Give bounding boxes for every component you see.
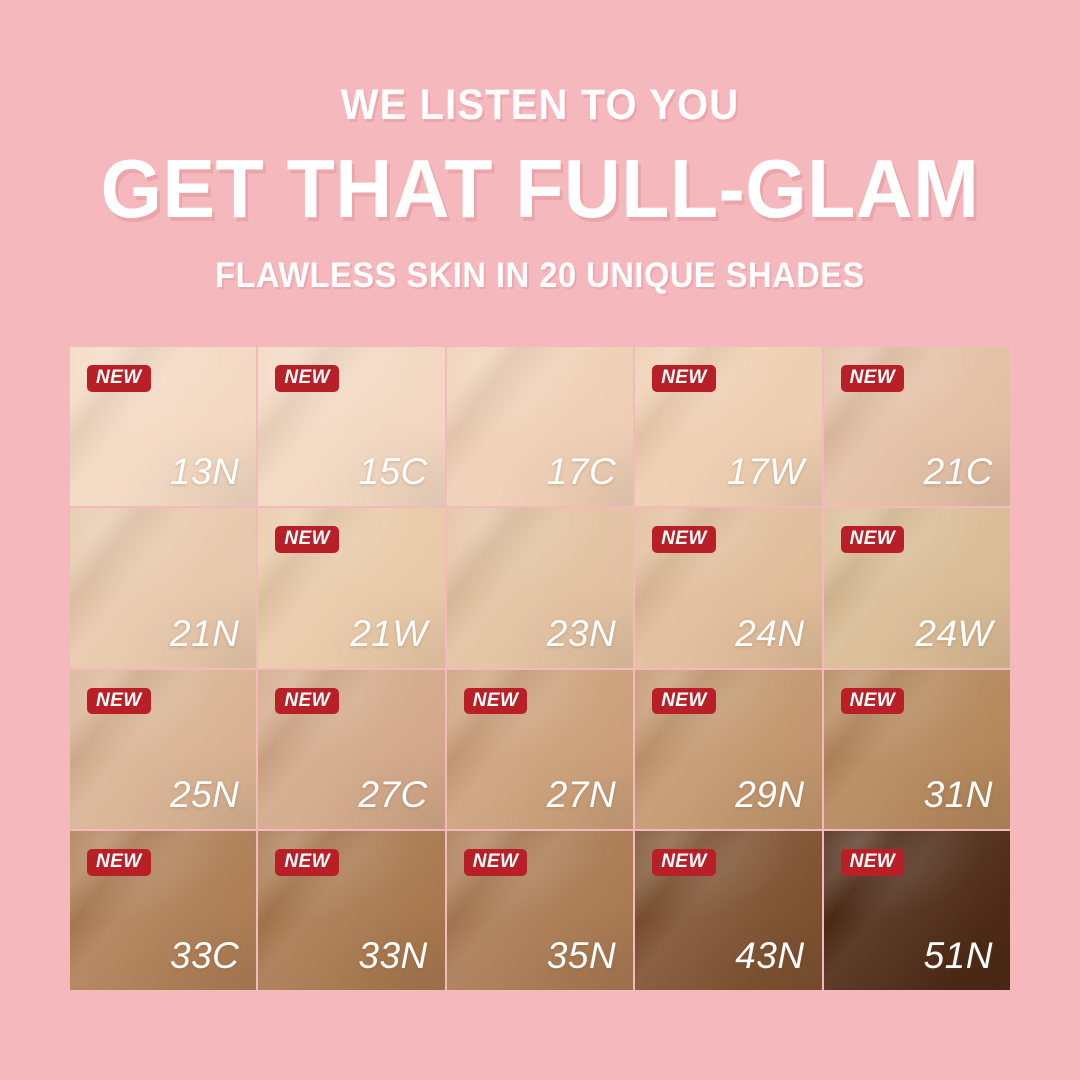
shade-code-label: 21C	[924, 453, 993, 490]
new-badge: NEW	[652, 849, 716, 876]
shade-code-label: 33C	[170, 937, 239, 974]
shade-swatch[interactable]: 21N	[70, 508, 256, 667]
new-badge: NEW	[87, 688, 151, 715]
shade-code-label: 51N	[924, 937, 993, 974]
shade-swatch[interactable]: NEW43N	[635, 831, 821, 990]
shade-code-label: 21N	[170, 615, 239, 652]
new-badge: NEW	[652, 365, 716, 392]
shade-code-label: 33N	[358, 937, 427, 974]
new-badge: NEW	[841, 526, 905, 553]
shade-swatch[interactable]: NEW29N	[635, 670, 821, 829]
eyebrow-text: WE LISTEN TO YOU	[38, 84, 1042, 127]
new-badge: NEW	[841, 849, 905, 876]
shade-swatch[interactable]: 17C	[447, 347, 633, 506]
shade-swatch[interactable]: NEW31N	[824, 670, 1010, 829]
new-badge: NEW	[275, 849, 339, 876]
new-badge: NEW	[275, 688, 339, 715]
promo-poster: WE LISTEN TO YOU GET THAT FULL-GLAM FLAW…	[0, 0, 1080, 1080]
new-badge: NEW	[652, 526, 716, 553]
shade-swatch[interactable]: NEW33N	[258, 831, 444, 990]
shade-swatch[interactable]: NEW25N	[70, 670, 256, 829]
new-badge: NEW	[87, 849, 151, 876]
page-title: GET THAT FULL-GLAM	[27, 147, 1053, 230]
shade-swatch[interactable]: NEW33C	[70, 831, 256, 990]
shade-swatch-grid: NEW13NNEW15C17CNEW17WNEW21C21NNEW21W23NN…	[70, 347, 1010, 990]
shade-code-label: 27C	[358, 776, 427, 813]
shade-swatch[interactable]: NEW17W	[635, 347, 821, 506]
shade-code-label: 25N	[170, 776, 239, 813]
shade-swatch[interactable]: NEW21C	[824, 347, 1010, 506]
shade-swatch[interactable]: NEW27N	[447, 670, 633, 829]
shade-code-label: 15C	[358, 453, 427, 490]
shade-code-label: 24N	[735, 615, 804, 652]
shade-swatch[interactable]: NEW51N	[824, 831, 1010, 990]
shade-code-label: 43N	[735, 937, 804, 974]
new-badge: NEW	[275, 526, 339, 553]
new-badge: NEW	[652, 688, 716, 715]
new-badge: NEW	[464, 849, 528, 876]
shade-swatch[interactable]: NEW21W	[258, 508, 444, 667]
shade-code-label: 29N	[735, 776, 804, 813]
shade-swatch[interactable]: NEW24N	[635, 508, 821, 667]
shade-swatch[interactable]: NEW13N	[70, 347, 256, 506]
shade-code-label: 21W	[350, 615, 428, 652]
new-badge: NEW	[464, 688, 528, 715]
new-badge: NEW	[275, 365, 339, 392]
shade-code-label: 13N	[170, 453, 239, 490]
shade-code-label: 24W	[915, 615, 993, 652]
shade-code-label: 17W	[727, 453, 805, 490]
new-badge: NEW	[841, 688, 905, 715]
shade-swatch[interactable]: 23N	[447, 508, 633, 667]
shade-code-label: 23N	[547, 615, 616, 652]
shade-code-label: 31N	[924, 776, 993, 813]
header-block: WE LISTEN TO YOU GET THAT FULL-GLAM FLAW…	[0, 0, 1080, 293]
shade-code-label: 17C	[547, 453, 616, 490]
shade-code-label: 27N	[547, 776, 616, 813]
shade-swatch[interactable]: NEW15C	[258, 347, 444, 506]
shade-swatch[interactable]: NEW27C	[258, 670, 444, 829]
new-badge: NEW	[841, 365, 905, 392]
shade-swatch[interactable]: NEW35N	[447, 831, 633, 990]
new-badge: NEW	[87, 365, 151, 392]
subheadline-text: FLAWLESS SKIN IN 20 UNIQUE SHADES	[38, 258, 1042, 293]
shade-swatch[interactable]: NEW24W	[824, 508, 1010, 667]
shade-code-label: 35N	[547, 937, 616, 974]
